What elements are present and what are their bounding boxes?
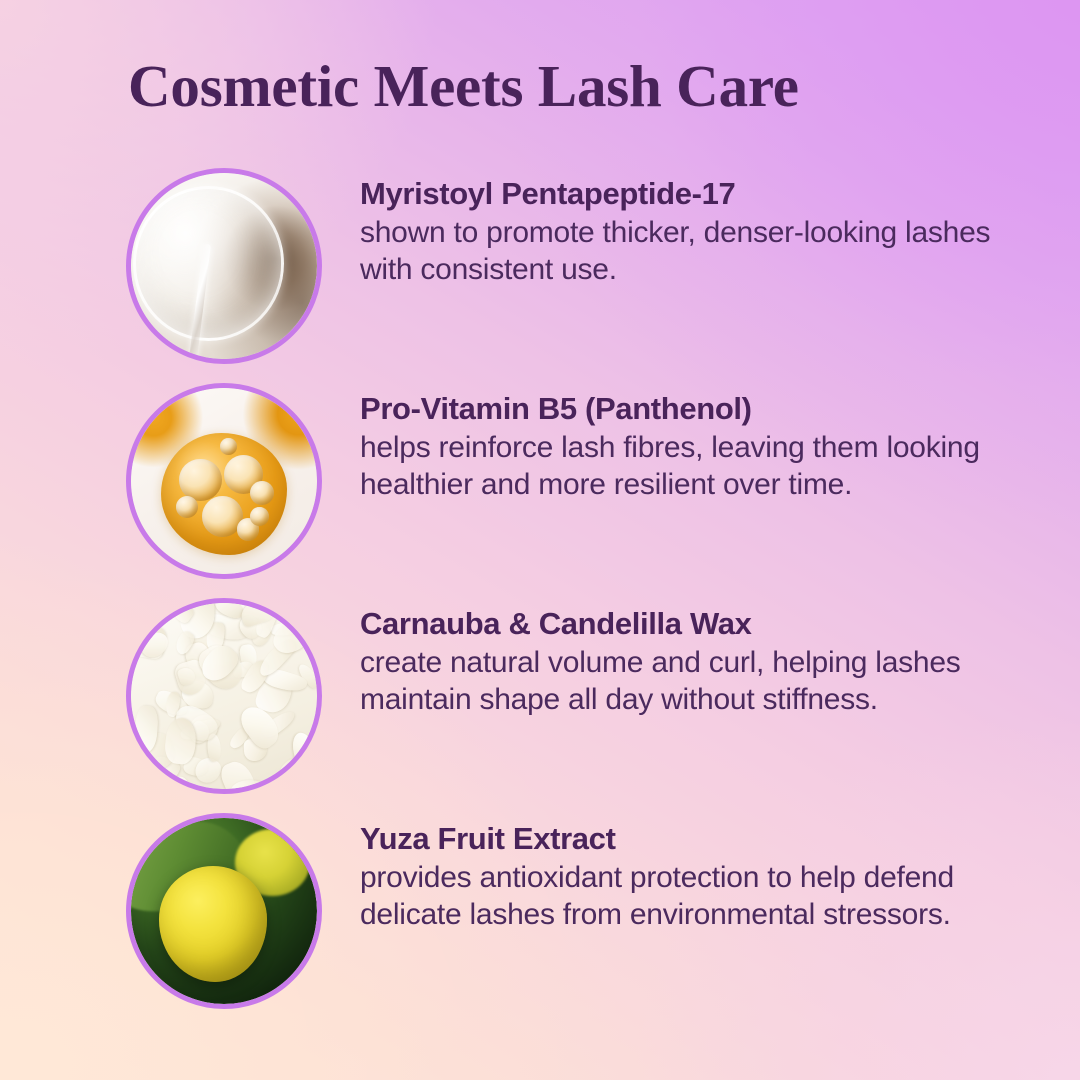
ingredient-name: Carnauba & Candelilla Wax [360,606,1050,643]
ingredient-description: shown to promote thicker, denser-looking… [360,214,1050,289]
ingredient-name: Myristoyl Pentapeptide-17 [360,176,1050,213]
ingredient-list: Myristoyl Pentapeptide-17 shown to promo… [0,168,1080,1028]
ingredient-infographic: Cosmetic Meets Lash Care Myristoyl Penta… [0,0,1080,1080]
wax-flake-group [131,603,317,789]
bubble-icon [176,496,198,518]
ingredient-image-yuzu [126,813,322,1009]
ingredient-description: create natural volume and curl, helping … [360,644,1050,719]
ingredient-name: Pro-Vitamin B5 (Panthenol) [360,391,1050,428]
wax-flake [283,603,317,614]
ingredient-copy: Yuza Fruit Extract provides antioxidant … [360,813,1050,934]
ingredient-description: provides antioxidant protection to help … [360,859,1050,934]
ingredient-image-peptide [126,168,322,364]
ingredient-copy: Carnauba & Candelilla Wax create natural… [360,598,1050,719]
ingredient-image-panthenol [126,383,322,579]
bubble-icon [250,481,274,505]
serum-droplet-icon [131,388,317,574]
list-item: Myristoyl Pentapeptide-17 shown to promo… [0,168,1080,383]
ingredient-description: helps reinforce lash fibres, leaving the… [360,429,1050,504]
ingredient-copy: Pro-Vitamin B5 (Panthenol) helps reinfor… [360,383,1050,504]
yuzu-fruit-icon [131,818,317,1004]
ingredient-name: Yuza Fruit Extract [360,821,1050,858]
list-item: Pro-Vitamin B5 (Panthenol) helps reinfor… [0,383,1080,598]
bubble-icon [250,507,269,526]
list-item: Yuza Fruit Extract provides antioxidant … [0,813,1080,1028]
ingredient-copy: Myristoyl Pentapeptide-17 shown to promo… [360,168,1050,289]
fruit-shape [159,866,267,981]
wax-flakes-icon [131,603,317,789]
petri-dish-icon [131,173,317,359]
bubble-icon [220,438,237,455]
content-wrapper: Cosmetic Meets Lash Care Myristoyl Penta… [0,0,1080,1080]
list-item: Carnauba & Candelilla Wax create natural… [0,598,1080,813]
page-title: Cosmetic Meets Lash Care [128,56,1008,117]
ingredient-image-wax [126,598,322,794]
